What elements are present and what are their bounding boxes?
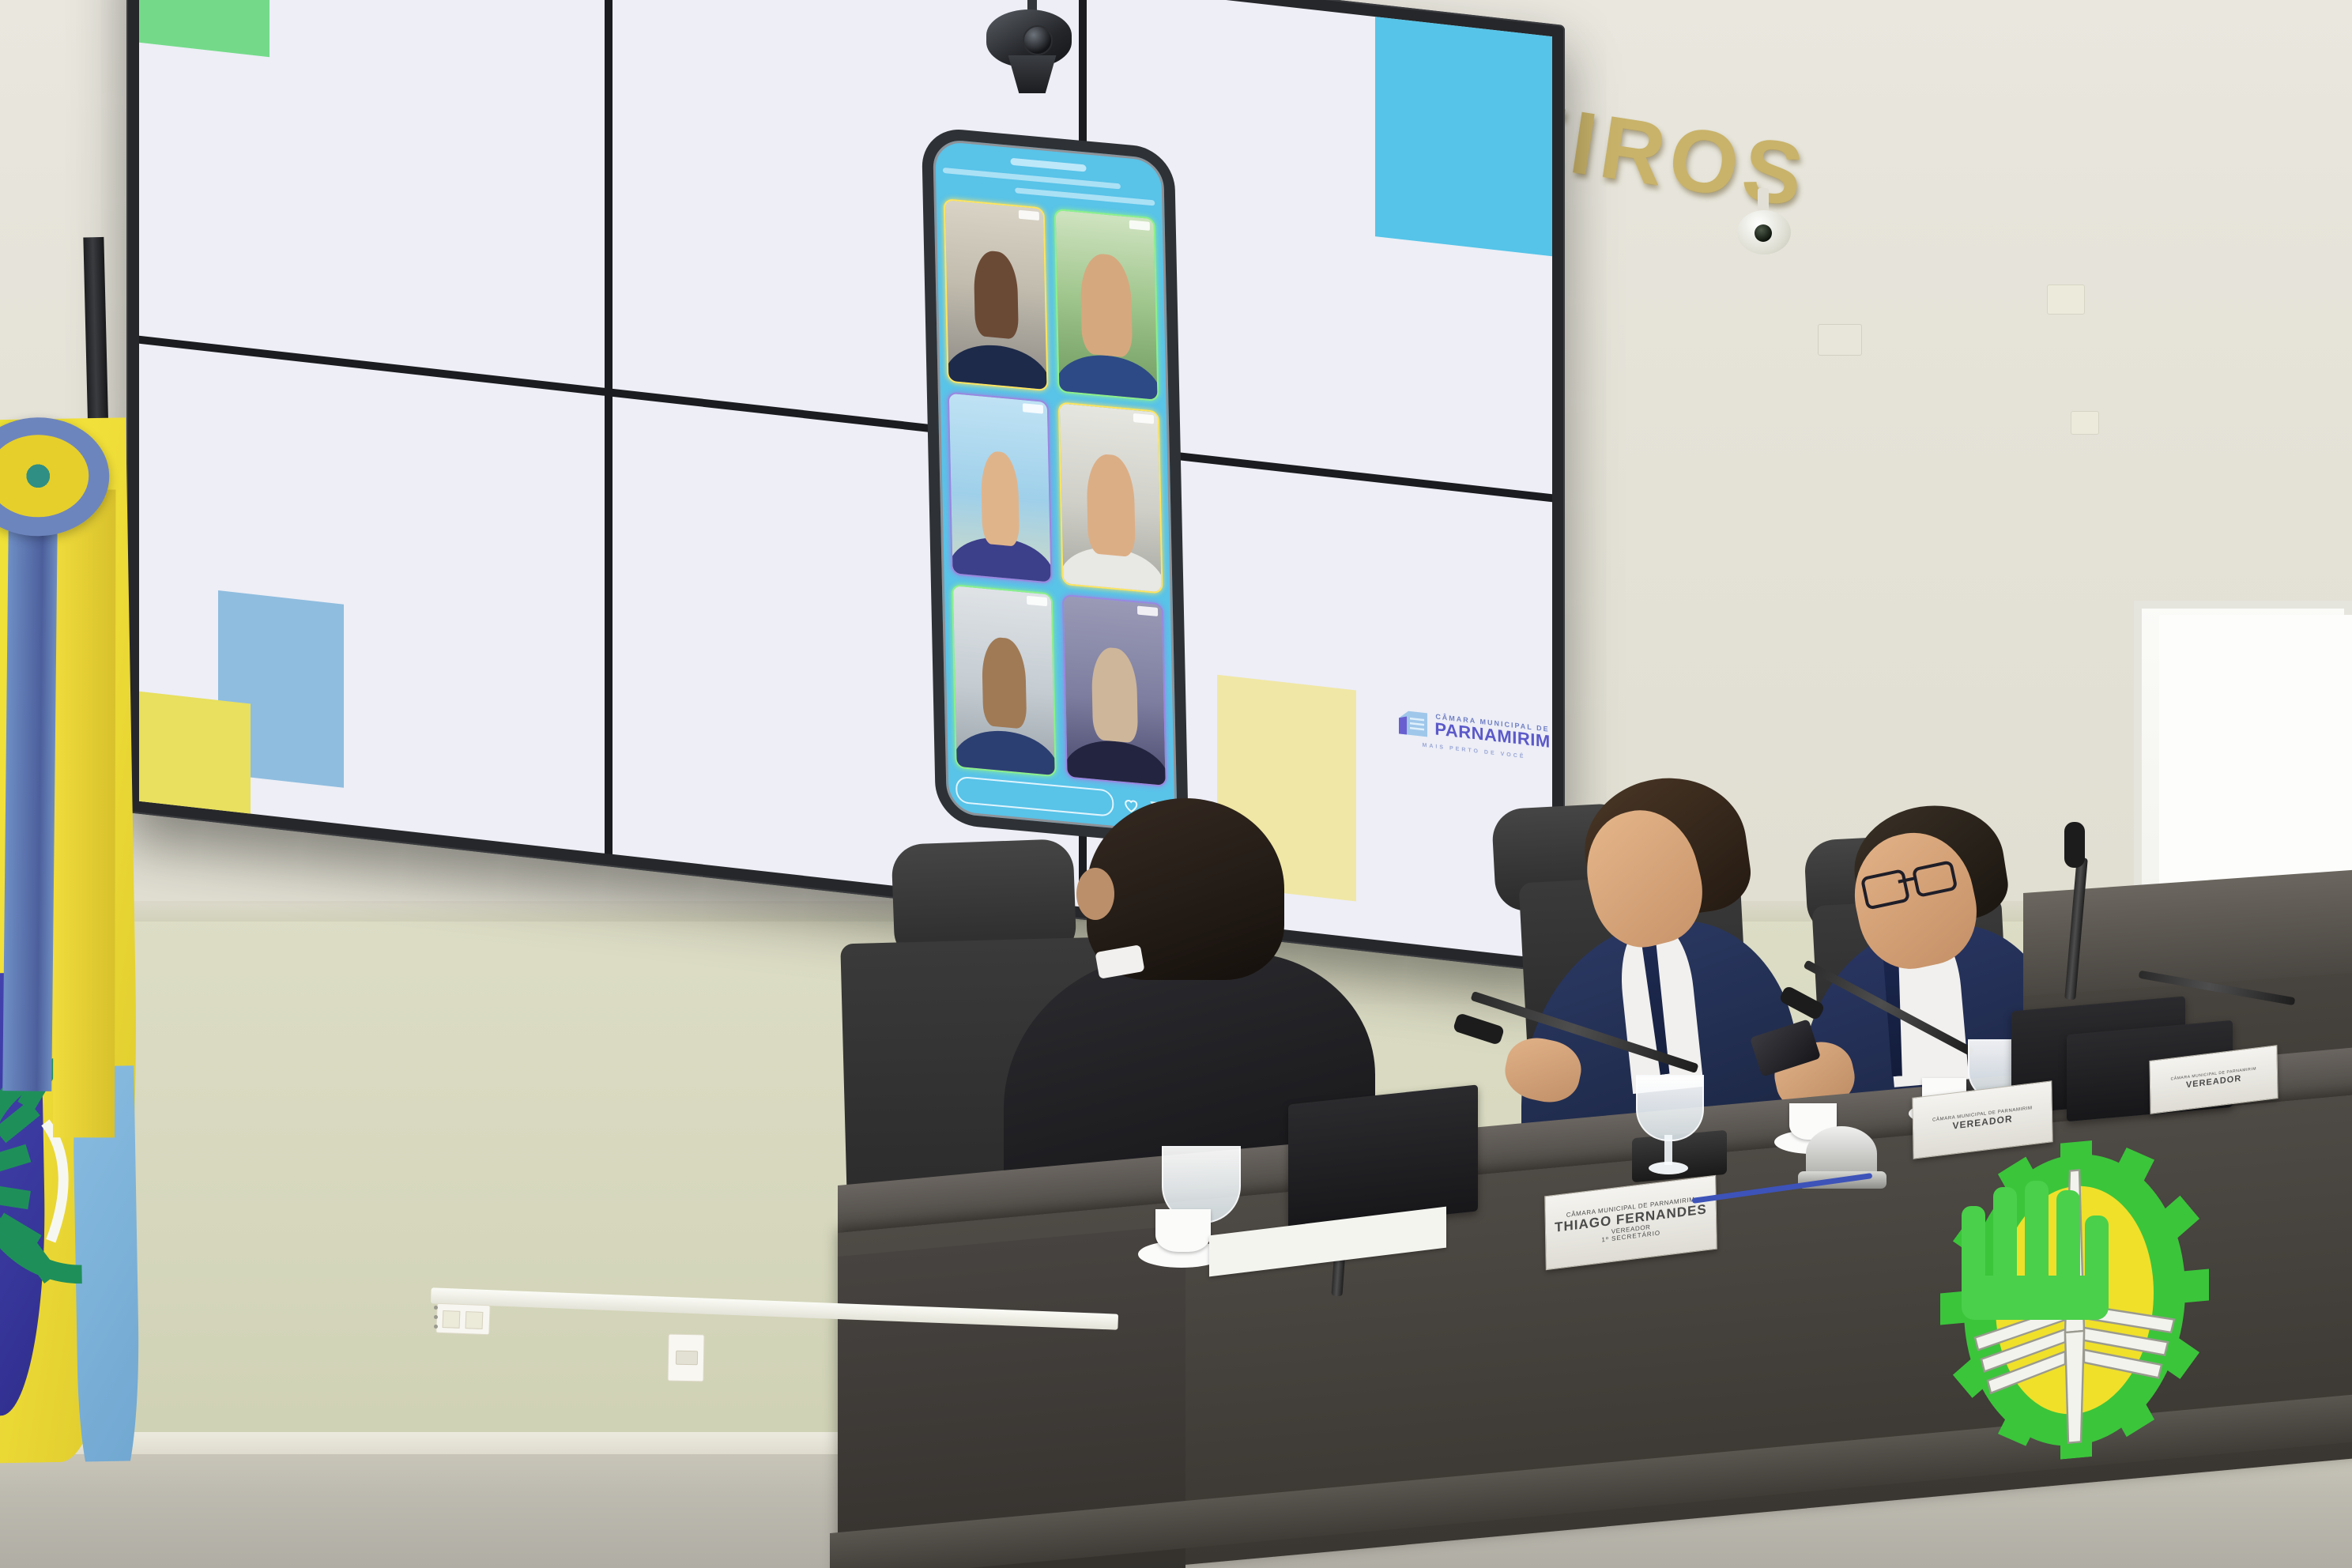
green-square — [139, 0, 269, 58]
placeholder-line — [943, 168, 1121, 190]
wall-plate — [2047, 285, 2085, 315]
tile-badge — [1023, 403, 1043, 413]
light-switch[interactable] — [435, 1303, 490, 1336]
tile-badge — [1019, 210, 1039, 220]
microphone-capsule — [2064, 822, 2085, 868]
video-tile-5[interactable] — [952, 584, 1057, 777]
video-tile-1[interactable] — [944, 198, 1049, 391]
phone-notch — [1010, 158, 1086, 172]
dome-security-camera-icon — [1731, 188, 1797, 264]
laptop[interactable] — [1288, 1084, 1478, 1231]
ear — [1076, 868, 1114, 920]
council-chamber-photo: DR. MARIO MEDEIROS — [0, 0, 2352, 1568]
cyan-square — [1375, 0, 1552, 258]
video-wall-panel-4 — [139, 344, 605, 854]
video-tile-3[interactable] — [948, 391, 1053, 584]
ceiling-camera-icon — [972, 0, 1091, 95]
wall-plate — [2071, 411, 2099, 435]
water-glass[interactable] — [1636, 1075, 1701, 1178]
tile-badge — [1129, 220, 1150, 230]
municipal-flag — [0, 370, 168, 1464]
tile-badge — [1027, 596, 1047, 606]
phone-mockup — [922, 126, 1189, 846]
data-outlet[interactable] — [667, 1334, 704, 1382]
building-logo-icon — [1397, 708, 1429, 738]
coffee-cup[interactable] — [1155, 1209, 1211, 1252]
video-tile-2[interactable] — [1054, 209, 1159, 401]
tile-badge — [1137, 606, 1158, 616]
video-wall-panel-1 — [139, 0, 605, 388]
tile-badge — [1133, 413, 1154, 424]
video-tile-6[interactable] — [1062, 594, 1167, 787]
video-tile-4[interactable] — [1058, 401, 1163, 594]
green-hand-voting-paddle[interactable] — [1952, 1178, 2118, 1320]
video-call-grid — [944, 198, 1167, 787]
wall-plate — [1818, 324, 1862, 356]
placeholder-line — [1015, 187, 1155, 205]
